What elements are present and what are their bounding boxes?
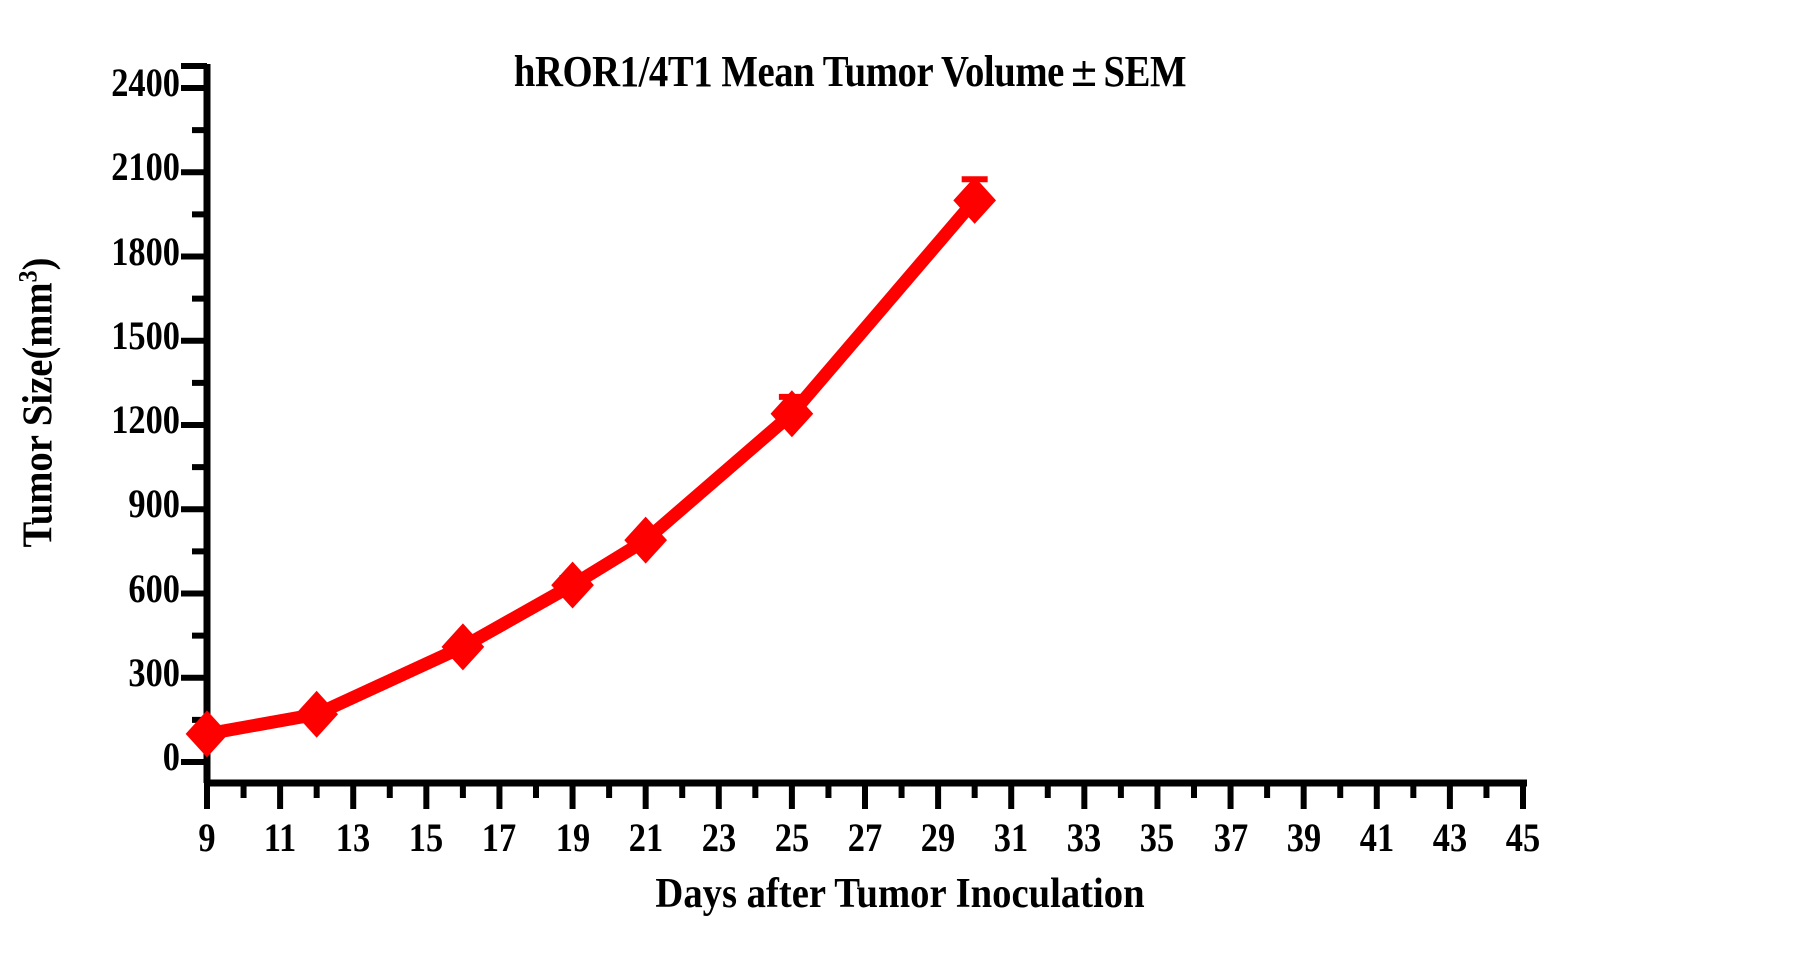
x-tick-label: 39 bbox=[1265, 818, 1342, 858]
figure-page: hROR1/4T1 Mean Tumor Volume±SEM Tumor Si… bbox=[0, 0, 1802, 978]
x-tick-label: 31 bbox=[973, 818, 1050, 858]
x-tick-label: 13 bbox=[315, 818, 392, 858]
x-tick-label: 27 bbox=[826, 818, 903, 858]
x-tick-label: 37 bbox=[1192, 818, 1269, 858]
x-tick-label: 29 bbox=[899, 818, 976, 858]
x-tick-label: 35 bbox=[1119, 818, 1196, 858]
tumor-volume-line-chart: hROR1/4T1 Mean Tumor Volume±SEM Tumor Si… bbox=[0, 0, 1802, 978]
x-tick-label: 25 bbox=[753, 818, 830, 858]
x-tick-label: 15 bbox=[388, 818, 465, 858]
x-tick-label: 9 bbox=[168, 818, 245, 858]
x-tick-label: 11 bbox=[241, 818, 318, 858]
x-tick-label: 21 bbox=[607, 818, 684, 858]
x-tick-label: 19 bbox=[534, 818, 611, 858]
x-tick-label-group: 9111315171921232527293133353739414345 bbox=[0, 0, 1802, 978]
x-tick-label: 45 bbox=[1484, 818, 1561, 858]
x-tick-label: 17 bbox=[461, 818, 538, 858]
x-tick-label: 41 bbox=[1338, 818, 1415, 858]
x-tick-label: 43 bbox=[1411, 818, 1488, 858]
x-tick-label: 33 bbox=[1046, 818, 1123, 858]
x-tick-label: 23 bbox=[680, 818, 757, 858]
